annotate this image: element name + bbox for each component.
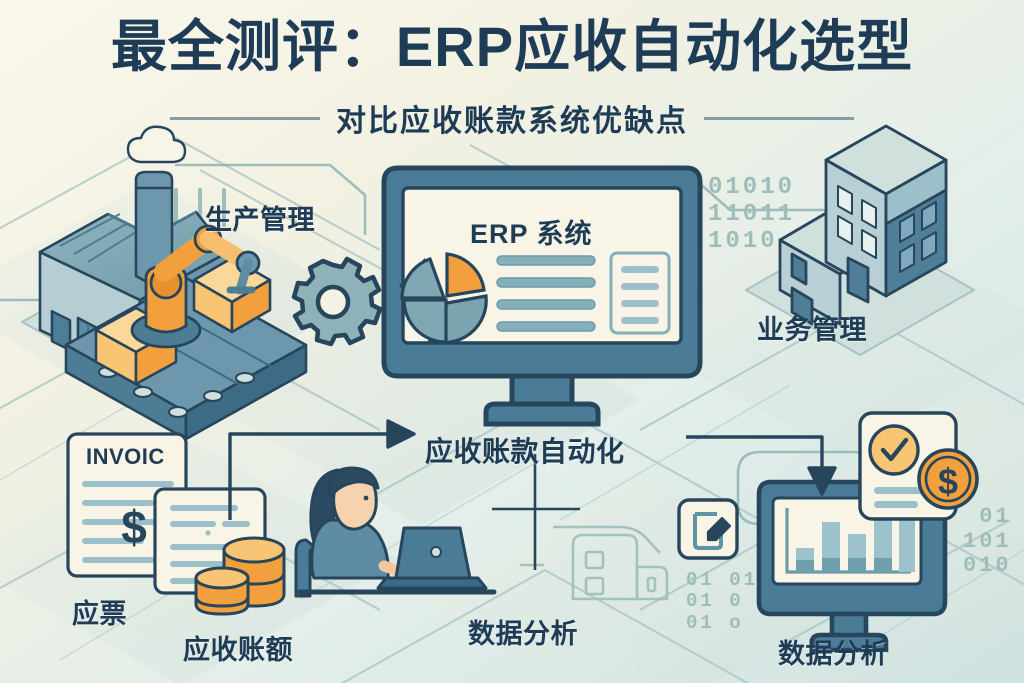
edit-document-icon: [679, 500, 737, 558]
money-badge: $: [919, 450, 977, 508]
gear-icon: [294, 259, 380, 344]
label-invoice: 应票: [72, 592, 127, 631]
svg-text:$: $: [121, 501, 147, 553]
label-ar-automation: 应收账款自动化: [425, 430, 625, 470]
illustration-layer: $: [0, 0, 1024, 683]
crosshair-divider: [492, 454, 580, 570]
dollar-sign-glyph: $: [121, 501, 147, 553]
label-business: 业务管理: [757, 308, 867, 347]
label-production: 生产管理: [205, 198, 315, 237]
binary-bottom-center: 01 01 01 0 01 o: [686, 570, 758, 634]
invoice-heading: INVOIC: [86, 444, 165, 470]
binary-bottom-right: 01 101 010: [963, 505, 1012, 579]
binary-top-right: 01010 11011 1010: [708, 175, 795, 256]
label-receivable-amount: 应收账额: [183, 628, 293, 667]
person-at-laptop-icon: [296, 468, 494, 596]
label-data-analysis-right: 数据分析: [778, 632, 888, 671]
erp-screen-title: ERP 系统: [470, 212, 593, 251]
desktop-monitor-icon: [384, 168, 700, 424]
infographic-poster: 最全测评：ERP应收自动化选型 对比应收账款系统优缺点: [0, 0, 1024, 683]
svg-text:$: $: [938, 461, 958, 502]
label-data-analysis-center: 数据分析: [468, 612, 578, 651]
